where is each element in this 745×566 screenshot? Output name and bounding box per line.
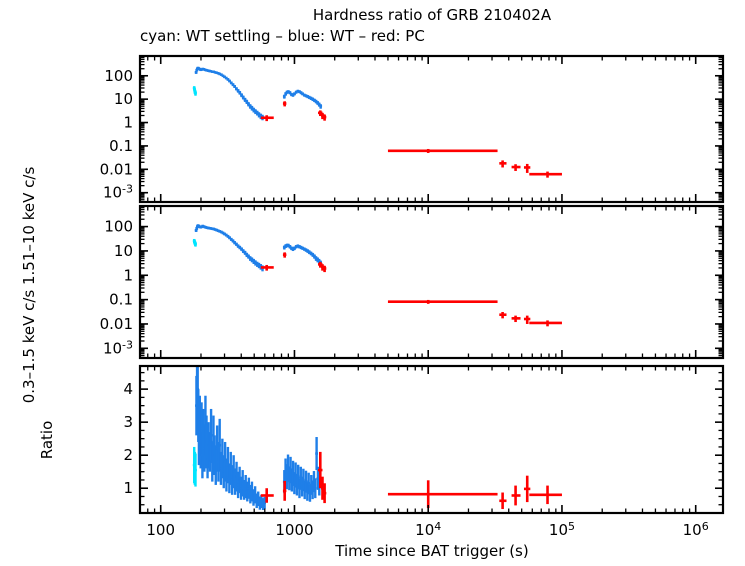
axis-tick-label: 1	[123, 266, 133, 284]
panel-soft: 1001010.10.0110-3	[100, 206, 723, 358]
plot-canvas: Hardness ratio of GRB 210402A cyan: WT s…	[0, 0, 745, 566]
axis-tick-label: 0.01	[100, 315, 133, 333]
axis-tick-label: 0.1	[109, 291, 133, 309]
axis-tick-label: 0.01	[100, 160, 133, 178]
panel-ratio: 12341001000104105106	[123, 364, 723, 539]
axis-tick-label: 3	[123, 413, 133, 431]
panel-hard: 1001010.10.0110-3	[100, 56, 723, 202]
x-axis-label: Time since BAT trigger (s)	[334, 542, 528, 560]
figure-title: Hardness ratio of GRB 210402A	[313, 6, 552, 24]
axis-tick-label: 10	[114, 242, 133, 260]
hardness-ratio-figure: Hardness ratio of GRB 210402A cyan: WT s…	[0, 0, 745, 566]
axis-tick-label: 100	[104, 218, 133, 236]
axis-tick-label: 100	[146, 521, 175, 539]
y-axis-label-upper-panels: 0.3–1.5 keV c/s 1.51–10 keV c/s	[20, 167, 38, 404]
axis-tick-label: 100	[104, 67, 133, 85]
figure-legend-subtitle: cyan: WT settling – blue: WT – red: PC	[140, 27, 425, 45]
axis-tick-label: 4	[123, 380, 133, 398]
axis-tick-label: 1	[123, 114, 133, 132]
axis-tick-label: 1	[123, 479, 133, 497]
y-axis-label-ratio: Ratio	[38, 421, 56, 460]
panels-group: 1001010.10.0110-31001010.10.0110-3123410…	[100, 56, 723, 539]
axis-tick-label: 1000	[275, 521, 313, 539]
axis-tick-label: 0.1	[109, 137, 133, 155]
axis-tick-label: 10	[114, 90, 133, 108]
axis-tick-label: 2	[123, 446, 133, 464]
